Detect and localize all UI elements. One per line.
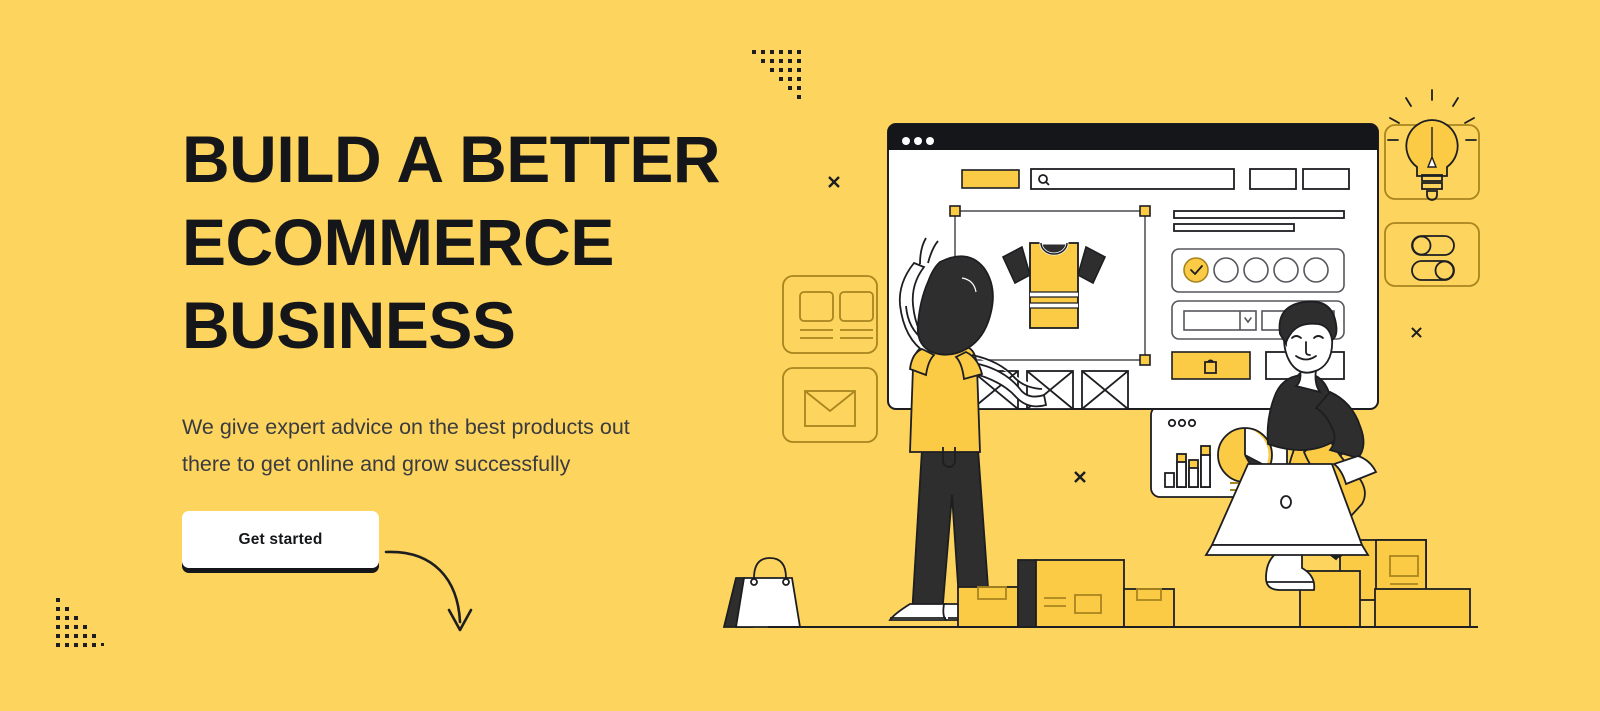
headline-line-2: ECOMMERCE xyxy=(182,205,614,279)
add-to-cart-button[interactable] xyxy=(1172,352,1250,379)
headline-line-1: BUILD A BETTER xyxy=(182,122,720,196)
selection-handle xyxy=(1140,206,1150,216)
window-dot xyxy=(914,137,922,145)
nav-button xyxy=(1250,169,1296,189)
get-started-label: Get started xyxy=(238,531,322,549)
float-card-idea xyxy=(1385,90,1479,200)
curved-arrow-icon xyxy=(382,536,492,646)
float-card-mail xyxy=(783,368,877,442)
selection-handle xyxy=(950,206,960,216)
swatch xyxy=(1274,258,1298,282)
cta-area: Get started xyxy=(182,511,379,568)
float-card-toggles xyxy=(1385,223,1479,286)
dropdown-size[interactable] xyxy=(1184,311,1256,330)
get-started-button[interactable]: Get started xyxy=(182,511,379,568)
swatch xyxy=(1304,258,1328,282)
brand-logo-placeholder xyxy=(962,170,1019,188)
dot-grid-bottom xyxy=(56,598,116,648)
headline-line-3: BUSINESS xyxy=(182,288,515,362)
detail-line xyxy=(1174,211,1344,218)
subtitle-line-1: We give expert advice on the best produc… xyxy=(182,415,630,439)
search-input[interactable] xyxy=(1031,169,1234,189)
window-dot xyxy=(926,137,934,145)
swatch xyxy=(1244,258,1268,282)
swatch xyxy=(1214,258,1238,282)
nav-button xyxy=(1303,169,1349,189)
hero-section: BUILD A BETTER ECOMMERCE BUSINESS We giv… xyxy=(0,0,1600,711)
hero-copy: BUILD A BETTER ECOMMERCE BUSINESS We giv… xyxy=(182,118,782,483)
shopping-bag xyxy=(724,558,800,627)
swatch-selected xyxy=(1184,258,1208,282)
float-card-layout xyxy=(783,276,877,353)
window-dot xyxy=(902,137,910,145)
hero-subtitle: We give expert advice on the best produc… xyxy=(182,409,727,483)
page-title: BUILD A BETTER ECOMMERCE BUSINESS xyxy=(182,118,782,367)
subtitle-line-2: there to get online and grow successfull… xyxy=(182,452,570,476)
selection-handle xyxy=(1140,355,1150,365)
ecommerce-illustration: .ln { stroke:#1D1E22; stroke-width:1.8; … xyxy=(700,0,1600,711)
detail-line xyxy=(1174,224,1294,231)
